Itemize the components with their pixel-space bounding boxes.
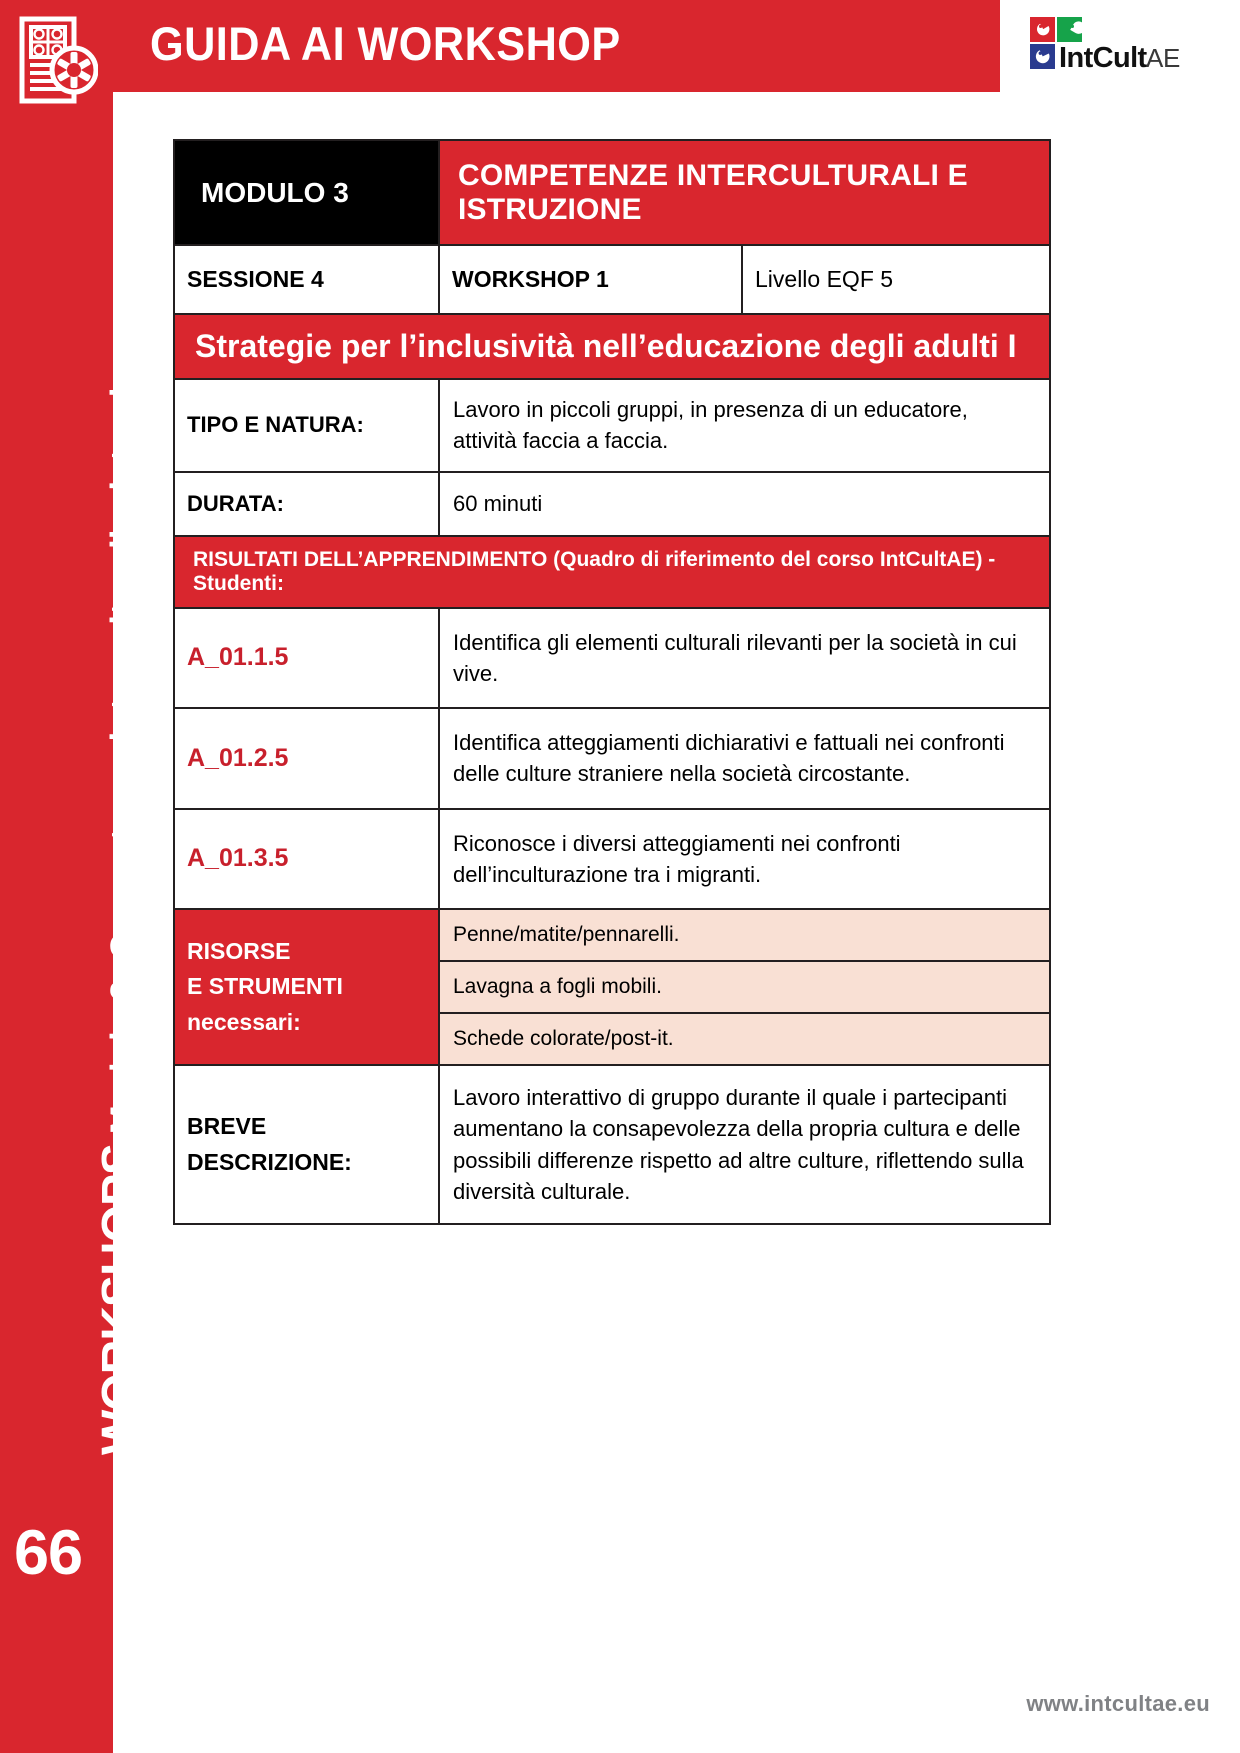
table-row-description: BREVE DESCRIZIONE: Lavoro interattivo di… bbox=[174, 1065, 1050, 1224]
resources-label-line3: necessari: bbox=[187, 1009, 301, 1035]
outcome-code: A_01.1.5 bbox=[174, 608, 439, 708]
description-label-line1: BREVE bbox=[187, 1113, 266, 1139]
durata-label: DURATA: bbox=[174, 472, 439, 536]
sidebar-title-rest: Modulo 3: Competenze interculturali e is… bbox=[104, 325, 143, 1144]
table-row-outcome: A_01.1.5 Identifica gli elementi cultura… bbox=[174, 608, 1050, 708]
outcome-text: Identifica atteggiamenti dichiarativi e … bbox=[439, 708, 1050, 808]
table-row-resources: RISORSE E STRUMENTI necessari: Penne/mat… bbox=[174, 909, 1050, 1065]
description-label: BREVE DESCRIZIONE: bbox=[174, 1065, 439, 1224]
resources-list: Penne/matite/pennarelli. Lavagna a fogli… bbox=[440, 910, 1049, 1064]
table-row-title: Strategie per l’inclusività nell’educazi… bbox=[174, 314, 1050, 379]
table-row-session: SESSIONE 4 WORKSHOP 1 Livello EQF 5 bbox=[174, 245, 1050, 314]
eqf-level: Livello EQF 5 bbox=[742, 245, 1050, 314]
table-row-tipo: TIPO E NATURA: Lavoro in piccoli gruppi,… bbox=[174, 379, 1050, 471]
page-number: 66 bbox=[14, 1522, 82, 1585]
table-row-outcomes-band: RISULTATI DELL’APPRENDIMENTO (Quadro di … bbox=[174, 536, 1050, 608]
intcultae-logo: IntCult AE bbox=[1028, 16, 1182, 80]
list-item: Schede colorate/post-it. bbox=[440, 1013, 1049, 1064]
list-item: Lavagna a fogli mobili. bbox=[440, 961, 1049, 1013]
workshop-label: WORKSHOP 1 bbox=[439, 245, 742, 314]
workshop-title: Strategie per l’inclusività nell’educazi… bbox=[174, 314, 1050, 379]
footer-url[interactable]: www.intcultae.eu bbox=[1026, 1691, 1210, 1717]
module-title: COMPETENZE INTERCULTURALI E ISTRUZIONE bbox=[439, 140, 1050, 245]
resource-item-text: Schede colorate/post-it. bbox=[440, 1013, 1049, 1064]
module-label: MODULO 3 bbox=[174, 140, 439, 245]
session-label: SESSIONE 4 bbox=[174, 245, 439, 314]
sidebar-title-wrap: WORKSHOPS Modulo 3: Competenze intercult… bbox=[0, 0, 113, 1480]
workshop-table: MODULO 3 COMPETENZE INTERCULTURALI E IST… bbox=[173, 139, 1051, 1225]
resources-label: RISORSE E STRUMENTI necessari: bbox=[174, 909, 439, 1065]
svg-text:IntCult: IntCult bbox=[1059, 42, 1148, 74]
sidebar-title: WORKSHOPS Modulo 3: Competenze intercult… bbox=[96, 325, 144, 1455]
table-row-outcome: A_01.3.5 Riconosce i diversi atteggiamen… bbox=[174, 809, 1050, 909]
outcomes-band-label: RISULTATI DELL’APPRENDIMENTO (Quadro di … bbox=[174, 536, 1050, 608]
resources-label-line2: E STRUMENTI bbox=[187, 973, 343, 999]
durata-value: 60 minuti bbox=[439, 472, 1050, 536]
page-title: GUIDA AI WORKSHOP bbox=[150, 20, 621, 67]
sidebar-title-strong: WORKSHOPS bbox=[93, 1144, 146, 1455]
outcome-text: Riconosce i diversi atteggiamenti nei co… bbox=[439, 809, 1050, 909]
table-row-durata: DURATA: 60 minuti bbox=[174, 472, 1050, 536]
left-sidebar: WORKSHOPS Modulo 3: Competenze intercult… bbox=[0, 0, 113, 1753]
svg-text:AE: AE bbox=[1146, 43, 1180, 73]
table-row-outcome: A_01.2.5 Identifica atteggiamenti dichia… bbox=[174, 708, 1050, 808]
resources-list-cell: Penne/matite/pennarelli. Lavagna a fogli… bbox=[439, 909, 1050, 1065]
description-text: Lavoro interattivo di gruppo durante il … bbox=[439, 1065, 1050, 1224]
resources-label-line1: RISORSE bbox=[187, 938, 291, 964]
resource-item-text: Penne/matite/pennarelli. bbox=[440, 910, 1049, 961]
outcome-text: Identifica gli elementi culturali rileva… bbox=[439, 608, 1050, 708]
book-icon bbox=[18, 16, 98, 104]
outcome-code: A_01.2.5 bbox=[174, 708, 439, 808]
description-label-line2: DESCRIZIONE: bbox=[187, 1149, 352, 1175]
tipo-label: TIPO E NATURA: bbox=[174, 379, 439, 471]
tipo-value: Lavoro in piccoli gruppi, in presenza di… bbox=[439, 379, 1050, 471]
table-row-module: MODULO 3 COMPETENZE INTERCULTURALI E IST… bbox=[174, 140, 1050, 245]
list-item: Penne/matite/pennarelli. bbox=[440, 910, 1049, 961]
resource-item-text: Lavagna a fogli mobili. bbox=[440, 961, 1049, 1013]
outcome-code: A_01.3.5 bbox=[174, 809, 439, 909]
